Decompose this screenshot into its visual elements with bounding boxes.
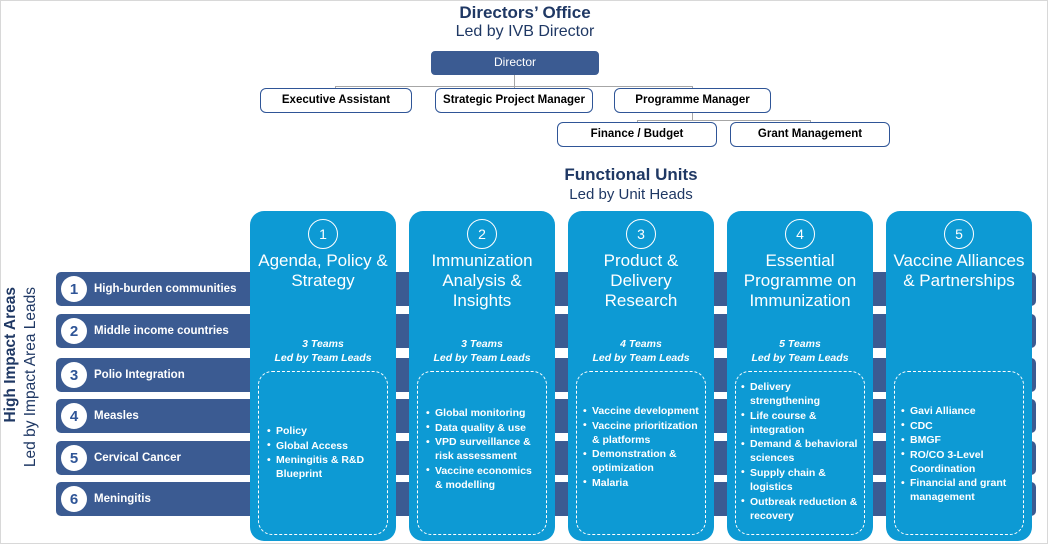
list-item: Outbreak reduction & recovery xyxy=(741,495,859,523)
functional-unit-teams-2: 3 Teams Led by Team Leads xyxy=(415,338,549,365)
functional-unit-title-4: Essential Programme on Immunization xyxy=(733,251,867,311)
functional-unit-teams-lead-4: Led by Team Leads xyxy=(751,352,848,364)
functional-unit-title-5: Vaccine Alliances & Partnerships xyxy=(892,251,1026,291)
functional-unit-list-3: Vaccine development Vaccine prioritizati… xyxy=(583,404,699,490)
functional-unit-dashbox-1: Policy Global Access Meningitis & R&D Bl… xyxy=(258,371,388,535)
list-item: Policy xyxy=(267,424,379,438)
list-item: Life course & integration xyxy=(741,409,859,437)
functional-unit-teams-count-3: 4 Teams xyxy=(620,338,662,350)
functional-unit-dashbox-2: Global monitoring Data quality & use VPD… xyxy=(417,371,547,535)
impact-area-number-5: 5 xyxy=(61,445,87,471)
functional-unit-column-5[interactable]: 5 Vaccine Alliances & Partnerships Gavi … xyxy=(886,211,1032,541)
functional-unit-title-2: Immunization Analysis & Insights xyxy=(415,251,549,311)
list-item: Global monitoring xyxy=(426,406,538,420)
list-item: Malaria xyxy=(583,476,699,490)
grant-management-box[interactable]: Grant Management xyxy=(730,122,890,147)
functional-unit-teams-3: 4 Teams Led by Team Leads xyxy=(574,338,708,365)
list-item: Financial and grant management xyxy=(901,476,1017,504)
functional-unit-number-2: 2 xyxy=(467,219,497,249)
functional-unit-number-1: 1 xyxy=(308,219,338,249)
programme-manager-box[interactable]: Programme Manager xyxy=(614,88,771,113)
finance-budget-box[interactable]: Finance / Budget xyxy=(557,122,717,147)
list-item: Vaccine development xyxy=(583,404,699,418)
list-item: Gavi Alliance xyxy=(901,404,1017,418)
director-box[interactable]: Director xyxy=(431,51,599,75)
functional-unit-list-4: Delivery strengthening Life course & int… xyxy=(741,380,859,523)
list-item: BMGF xyxy=(901,433,1017,447)
list-item: Data quality & use xyxy=(426,421,538,435)
list-item: Demonstration & optimization xyxy=(583,447,699,475)
functional-unit-teams-count-1: 3 Teams xyxy=(302,338,344,350)
functional-unit-column-3[interactable]: 3 Product & Delivery Research 4 Teams Le… xyxy=(568,211,714,541)
functional-unit-dashbox-5: Gavi Alliance CDC BMGF RO/CO 3-Level Coo… xyxy=(894,371,1024,535)
functional-unit-title-1: Agenda, Policy & Strategy xyxy=(256,251,390,291)
functional-unit-column-1[interactable]: 1 Agenda, Policy & Strategy 3 Teams Led … xyxy=(250,211,396,541)
list-item: Demand & behavioral sciences xyxy=(741,437,859,465)
functional-unit-number-3: 3 xyxy=(626,219,656,249)
functional-unit-teams-lead-2: Led by Team Leads xyxy=(433,352,530,364)
list-item: Vaccine economics & modelling xyxy=(426,464,538,492)
functional-units-title: Functional Units xyxy=(421,165,841,185)
list-item: Supply chain & logistics xyxy=(741,466,859,494)
impact-area-label-2: Middle income countries xyxy=(94,314,229,348)
impact-area-number-4: 4 xyxy=(61,403,87,429)
impact-area-number-6: 6 xyxy=(61,486,87,512)
impact-area-number-3: 3 xyxy=(61,362,87,388)
list-item: Meningitis & R&D Blueprint xyxy=(267,453,379,481)
functional-unit-teams-lead-3: Led by Team Leads xyxy=(592,352,689,364)
impact-areas-axis-title: High Impact Areas xyxy=(3,287,19,423)
impact-area-label-3: Polio Integration xyxy=(94,358,185,392)
functional-unit-list-2: Global monitoring Data quality & use VPD… xyxy=(426,406,538,492)
list-item: Delivery strengthening xyxy=(741,380,859,408)
impact-area-label-1: High-burden communities xyxy=(94,272,236,306)
functional-unit-title-3: Product & Delivery Research xyxy=(574,251,708,311)
impact-area-label-4: Measles xyxy=(94,399,139,433)
functional-unit-teams-1: 3 Teams Led by Team Leads xyxy=(256,338,390,365)
functional-unit-list-1: Policy Global Access Meningitis & R&D Bl… xyxy=(267,424,379,481)
impact-area-label-5: Cervical Cancer xyxy=(94,441,181,475)
functional-unit-dashbox-3: Vaccine development Vaccine prioritizati… xyxy=(576,371,706,535)
list-item: Vaccine prioritization & platforms xyxy=(583,419,699,447)
org-chart-canvas: Directors’ Office Led by IVB Director Di… xyxy=(0,0,1048,544)
functional-unit-list-5: Gavi Alliance CDC BMGF RO/CO 3-Level Coo… xyxy=(901,404,1017,504)
list-item: RO/CO 3-Level Coordination xyxy=(901,448,1017,476)
functional-unit-teams-lead-1: Led by Team Leads xyxy=(274,352,371,364)
impact-area-number-1: 1 xyxy=(61,276,87,302)
impact-area-label-6: Meningitis xyxy=(94,482,151,516)
directors-office-subtitle: Led by IVB Director xyxy=(315,23,735,41)
functional-units-subtitle: Led by Unit Heads xyxy=(421,186,841,203)
functional-unit-number-4: 4 xyxy=(785,219,815,249)
functional-unit-teams-count-4: 5 Teams xyxy=(779,338,821,350)
list-item: VPD surveillance & risk assessment xyxy=(426,435,538,463)
executive-assistant-box[interactable]: Executive Assistant xyxy=(260,88,412,113)
impact-area-number-2: 2 xyxy=(61,318,87,344)
impact-areas-axis-subtitle: Led by Impact Area Leads xyxy=(23,287,39,467)
list-item: CDC xyxy=(901,419,1017,433)
list-item: Global Access xyxy=(267,439,379,453)
functional-unit-column-4[interactable]: 4 Essential Programme on Immunization 5 … xyxy=(727,211,873,541)
functional-unit-teams-4: 5 Teams Led by Team Leads xyxy=(733,338,867,365)
functional-unit-column-2[interactable]: 2 Immunization Analysis & Insights 3 Tea… xyxy=(409,211,555,541)
functional-unit-number-5: 5 xyxy=(944,219,974,249)
functional-unit-teams-count-2: 3 Teams xyxy=(461,338,503,350)
strategic-project-manager-box[interactable]: Strategic Project Manager xyxy=(435,88,593,113)
directors-office-title: Directors’ Office xyxy=(315,3,735,23)
functional-unit-dashbox-4: Delivery strengthening Life course & int… xyxy=(735,371,865,535)
